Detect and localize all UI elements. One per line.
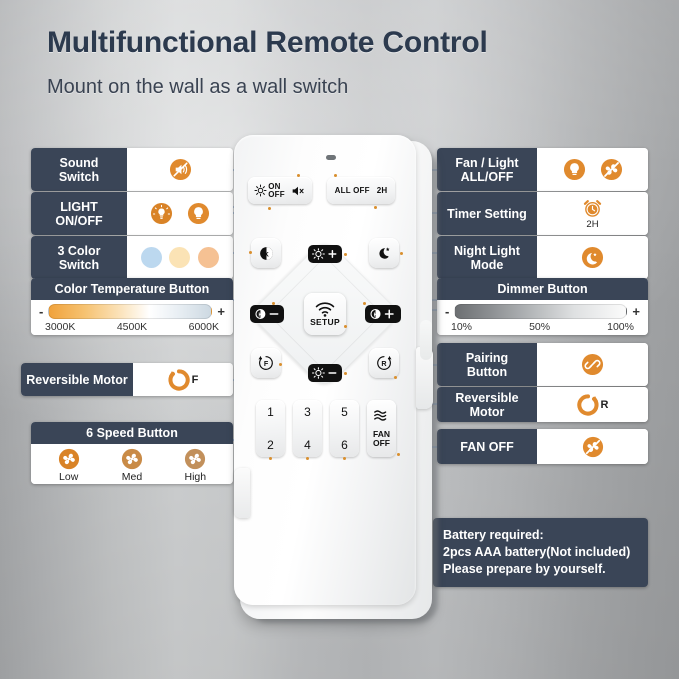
callout-label: Color Temperature Button — [31, 278, 233, 300]
hotspot-dot — [297, 174, 300, 177]
callout-reversible-motor-forward[interactable]: Reversible Motor F — [21, 363, 233, 396]
light-off-label: OFF — [268, 191, 285, 199]
callout-dimmer-button[interactable]: Dimmer Button - + 10% 50% 100% — [437, 278, 648, 335]
infographic-canvas: Multifunctional Remote Control Mount on … — [0, 0, 679, 679]
remote-body: ON OFF ALL OFF 2H — [234, 135, 416, 605]
rotate-forward-icon — [168, 369, 190, 391]
callout-label: 3 ColorSwitch — [31, 236, 127, 279]
wifi-icon — [314, 302, 336, 317]
speed-label-5: 5 — [341, 405, 348, 419]
battery-note-line2: 2pcs AAA battery(Not included) — [443, 544, 638, 561]
button-all-off-timer[interactable]: ALL OFF 2H — [327, 177, 395, 204]
swatch-natural-white — [169, 247, 190, 268]
button-brightness-up[interactable] — [308, 245, 342, 263]
bulb-on-icon — [150, 202, 173, 225]
moon-icon — [376, 245, 393, 262]
timer-duration-label: 2H — [586, 219, 598, 230]
callout-fan-light-all-off[interactable]: Fan / LightALL/OFF — [437, 148, 648, 191]
sun-icon — [254, 184, 267, 197]
page-title: Multifunctional Remote Control — [47, 26, 488, 60]
callout-icons: R — [537, 387, 648, 422]
callout-icons — [537, 236, 648, 279]
fan-speed-caption: Med — [122, 471, 142, 483]
breeze-waves-icon — [373, 409, 391, 422]
fan-medium-icon — [121, 448, 143, 470]
all-off-label: ALL OFF — [335, 186, 370, 195]
callout-label: Timer Setting — [437, 192, 537, 235]
swatch-warm-white — [198, 247, 219, 268]
button-cct-up[interactable]: K — [365, 305, 401, 323]
hotspot-dot — [394, 376, 397, 379]
svg-text:K: K — [259, 312, 263, 318]
speed-label-6: 6 — [341, 438, 348, 452]
svg-text:K: K — [264, 251, 269, 258]
swatch-cool-white — [141, 247, 162, 268]
speed-label-3: 3 — [304, 405, 311, 419]
holder-tab-left — [234, 468, 250, 518]
callout-light-on-off[interactable]: LIGHTON/OFF — [31, 192, 233, 235]
callout-color-temperature-button[interactable]: Color Temperature Button - + 3000K 4500K… — [31, 278, 233, 335]
speed-label-1: 1 — [267, 405, 274, 419]
fan-solid-icon — [58, 448, 80, 470]
rotate-reverse-icon: R — [374, 353, 394, 373]
callout-icons — [537, 429, 648, 464]
callout-night-light-mode[interactable]: Night LightMode — [437, 236, 648, 279]
link-chain-icon — [581, 353, 604, 376]
cct-tick: 3000K — [45, 321, 75, 333]
callout-sound-switch[interactable]: SoundSwitch — [31, 148, 233, 191]
button-night-light[interactable] — [369, 238, 399, 268]
dimmer-tick: 50% — [529, 321, 550, 333]
hotspot-dot — [279, 363, 282, 366]
hotspot-dot — [272, 302, 275, 305]
dimmer-scale: - + 10% 50% 100% — [437, 300, 648, 335]
timer-2h-label: 2H — [377, 186, 388, 195]
dimmer-tick: 10% — [451, 321, 472, 333]
callout-icons — [127, 148, 233, 191]
battery-note-line1: Battery required: — [443, 527, 638, 544]
speaker-mute-icon — [290, 183, 306, 199]
callout-label: LIGHTON/OFF — [31, 192, 127, 235]
callout-label: 6 Speed Button — [31, 422, 233, 444]
color-swatches — [127, 236, 233, 279]
cct-plus-icon: K — [368, 307, 398, 321]
fan-speed-high: High — [184, 448, 206, 483]
callout-timer-setting[interactable]: Timer Setting 2H — [437, 192, 648, 235]
cct-tick: 6000K — [189, 321, 219, 333]
callout-pairing-button[interactable]: PairingButton — [437, 343, 648, 386]
fan-speed-low: Low — [58, 448, 80, 483]
cct-minus-icon: K — [253, 307, 281, 321]
fan-off-line2: OFF — [373, 439, 390, 448]
button-light-on-off[interactable]: ON OFF — [248, 177, 312, 204]
fan-speed-med: Med — [121, 448, 143, 483]
dimmer-tick: 100% — [607, 321, 634, 333]
dimmer-gradient-bar — [454, 304, 627, 319]
rotate-reverse-icon — [577, 394, 599, 416]
callout-label: Reversible Motor — [21, 363, 133, 396]
hotspot-dot — [400, 252, 403, 255]
rotate-forward-icon: F — [256, 353, 276, 373]
motor-direction-label: F — [192, 374, 199, 386]
cct-gradient-bar — [48, 304, 212, 319]
callout-label: Reversible Motor — [437, 387, 537, 422]
callout-three-color-switch[interactable]: 3 ColorSwitch — [31, 236, 233, 279]
hotspot-dot — [344, 253, 347, 256]
svg-text:F: F — [264, 360, 269, 368]
battery-note-line3: Please prepare by yourself. — [443, 561, 638, 578]
kelvin-k-icon: K — [258, 245, 275, 262]
speed-label-4: 4 — [304, 438, 311, 452]
callout-six-speed-button[interactable]: 6 Speed Button Low — [31, 422, 233, 484]
callout-reversible-motor-reverse[interactable]: Reversible Motor R — [437, 387, 648, 422]
button-brightness-down[interactable] — [308, 364, 342, 382]
callout-label: PairingButton — [437, 343, 537, 386]
callout-icons: F — [133, 363, 233, 396]
hotspot-dot — [363, 302, 366, 305]
callout-label: Dimmer Button — [437, 278, 648, 300]
hotspot-dot — [374, 206, 377, 209]
motor-direction-label: R — [601, 399, 609, 411]
setup-label: SETUP — [310, 317, 340, 327]
cct-minus-sign: - — [39, 305, 43, 318]
callout-fan-off[interactable]: FAN OFF — [437, 429, 648, 464]
callout-label: Fan / LightALL/OFF — [437, 148, 537, 191]
fan-speed-caption: High — [185, 471, 207, 483]
button-setup[interactable]: SETUP — [304, 293, 346, 335]
hotspot-dot — [249, 251, 252, 254]
button-speed-5-6[interactable]: 5 6 — [330, 400, 359, 457]
hotspot-dot — [344, 325, 347, 328]
alarm-clock-icon — [582, 198, 603, 219]
callout-icons — [537, 343, 648, 386]
button-color-switch[interactable]: K — [251, 238, 281, 268]
holder-tab-right-upper — [420, 320, 432, 360]
hotspot-dot — [268, 207, 271, 210]
callout-icons — [537, 148, 648, 191]
callout-label: SoundSwitch — [31, 148, 127, 191]
callout-label: FAN OFF — [437, 429, 537, 464]
bulb-off-icon — [563, 158, 586, 181]
speaker-mute-icon — [169, 158, 192, 181]
battery-note: Battery required: 2pcs AAA battery(Not i… — [433, 518, 648, 587]
button-cct-down[interactable]: K — [250, 305, 284, 323]
hotspot-dot — [334, 174, 337, 177]
brightness-minus-icon — [311, 366, 339, 380]
hotspot-dot — [343, 457, 346, 460]
callout-label: Night LightMode — [437, 236, 537, 279]
hotspot-dot — [344, 372, 347, 375]
svg-text:R: R — [381, 360, 387, 368]
svg-text:K: K — [374, 313, 378, 319]
button-reverse[interactable]: R — [369, 348, 399, 378]
ir-emitter — [326, 155, 336, 160]
fan-speed-caption: Low — [59, 471, 78, 483]
button-forward[interactable]: F — [251, 348, 281, 378]
moon-icon — [581, 246, 604, 269]
callout-icons: 2H — [537, 192, 648, 235]
button-speed-1-2[interactable]: 1 2 — [256, 400, 285, 457]
fan-speeds: Low Med — [31, 444, 233, 484]
cct-scale: - + 3000K 4500K 6000K — [31, 300, 233, 335]
cct-tick: 4500K — [117, 321, 147, 333]
dimmer-plus-sign: + — [632, 305, 640, 318]
remote-control-device: ON OFF ALL OFF 2H — [226, 135, 446, 625]
hotspot-dot — [397, 453, 400, 456]
fan-crossed-icon — [582, 436, 604, 458]
button-fan-off[interactable]: FAN OFF — [367, 400, 396, 457]
fan-crossed-icon — [600, 158, 623, 181]
hotspot-dot — [306, 457, 309, 460]
callout-icons — [127, 192, 233, 235]
page-subtitle: Mount on the wall as a wall switch — [47, 76, 348, 99]
brightness-plus-icon — [311, 247, 339, 261]
cct-plus-sign: + — [217, 305, 225, 318]
hotspot-dot — [269, 457, 272, 460]
bulb-off-icon — [187, 202, 210, 225]
fan-high-icon — [184, 448, 206, 470]
speed-label-2: 2 — [267, 438, 274, 452]
button-speed-3-4[interactable]: 3 4 — [293, 400, 322, 457]
